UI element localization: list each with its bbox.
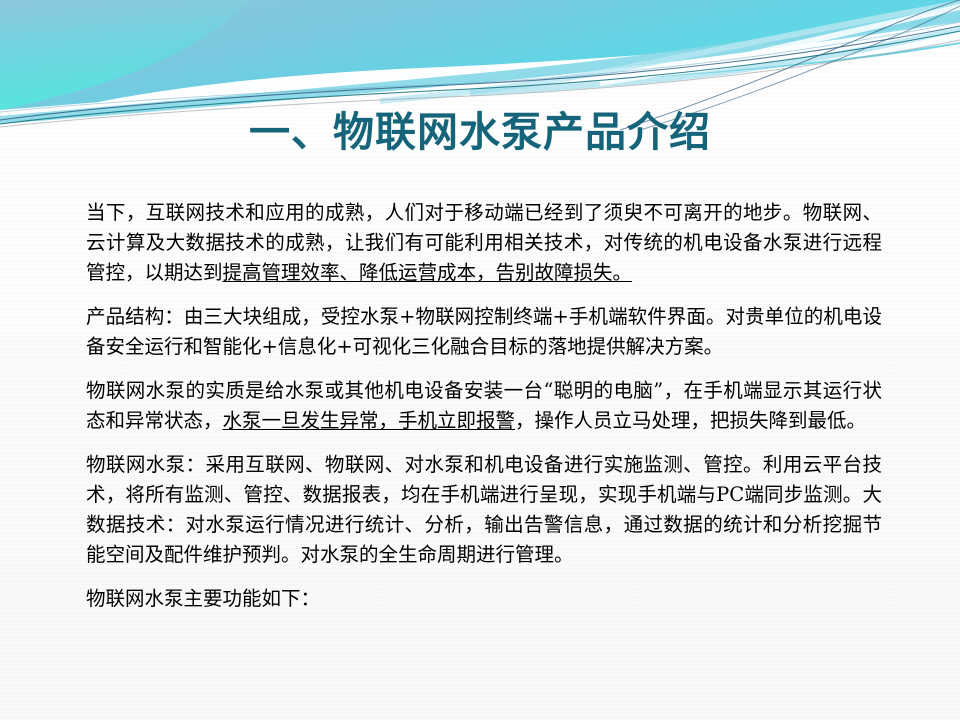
presentation-slide: 一、物联网水泵产品介绍 当下，互联网技术和应用的成熟，人们对于移动端已经到了须臾… [0,0,960,720]
paragraph-5: 物联网水泵主要功能如下： [86,584,882,614]
page-title: 一、物联网水泵产品介绍 [0,108,960,156]
text-run: 产品结构：由三大块组成，受控水泵+物联网控制终端+手机端软件界面。对贵单位的机电… [86,305,882,358]
emphasis-underlined-run: 提高管理效率、降低运营成本，告别故障损失。 [223,261,633,284]
paragraph-2: 产品结构：由三大块组成，受控水泵+物联网控制终端+手机端软件界面。对贵单位的机电… [86,302,882,362]
paragraph-3: 物联网水泵的实质是给水泵或其他机电设备安装一台“聪明的电脑”，在手机端显示其运行… [86,376,882,436]
text-run: 物联网水泵主要功能如下： [86,587,320,610]
text-run: ，操作人员立马处理，把损失降到最低。 [515,409,866,432]
paragraph-1: 当下，互联网技术和应用的成熟，人们对于移动端已经到了须臾不可离开的地步。物联网、… [86,198,882,288]
slide-body-content: 当下，互联网技术和应用的成熟，人们对于移动端已经到了须臾不可离开的地步。物联网、… [86,198,882,614]
text-run: 物联网水泵：采用互联网、物联网、对水泵和机电设备进行实施监测、管控。利用云平台技… [86,453,882,566]
emphasis-underlined-run: 水泵一旦发生异常，手机立即报警 [223,409,516,432]
paragraph-4: 物联网水泵：采用互联网、物联网、对水泵和机电设备进行实施监测、管控。利用云平台技… [86,450,882,570]
